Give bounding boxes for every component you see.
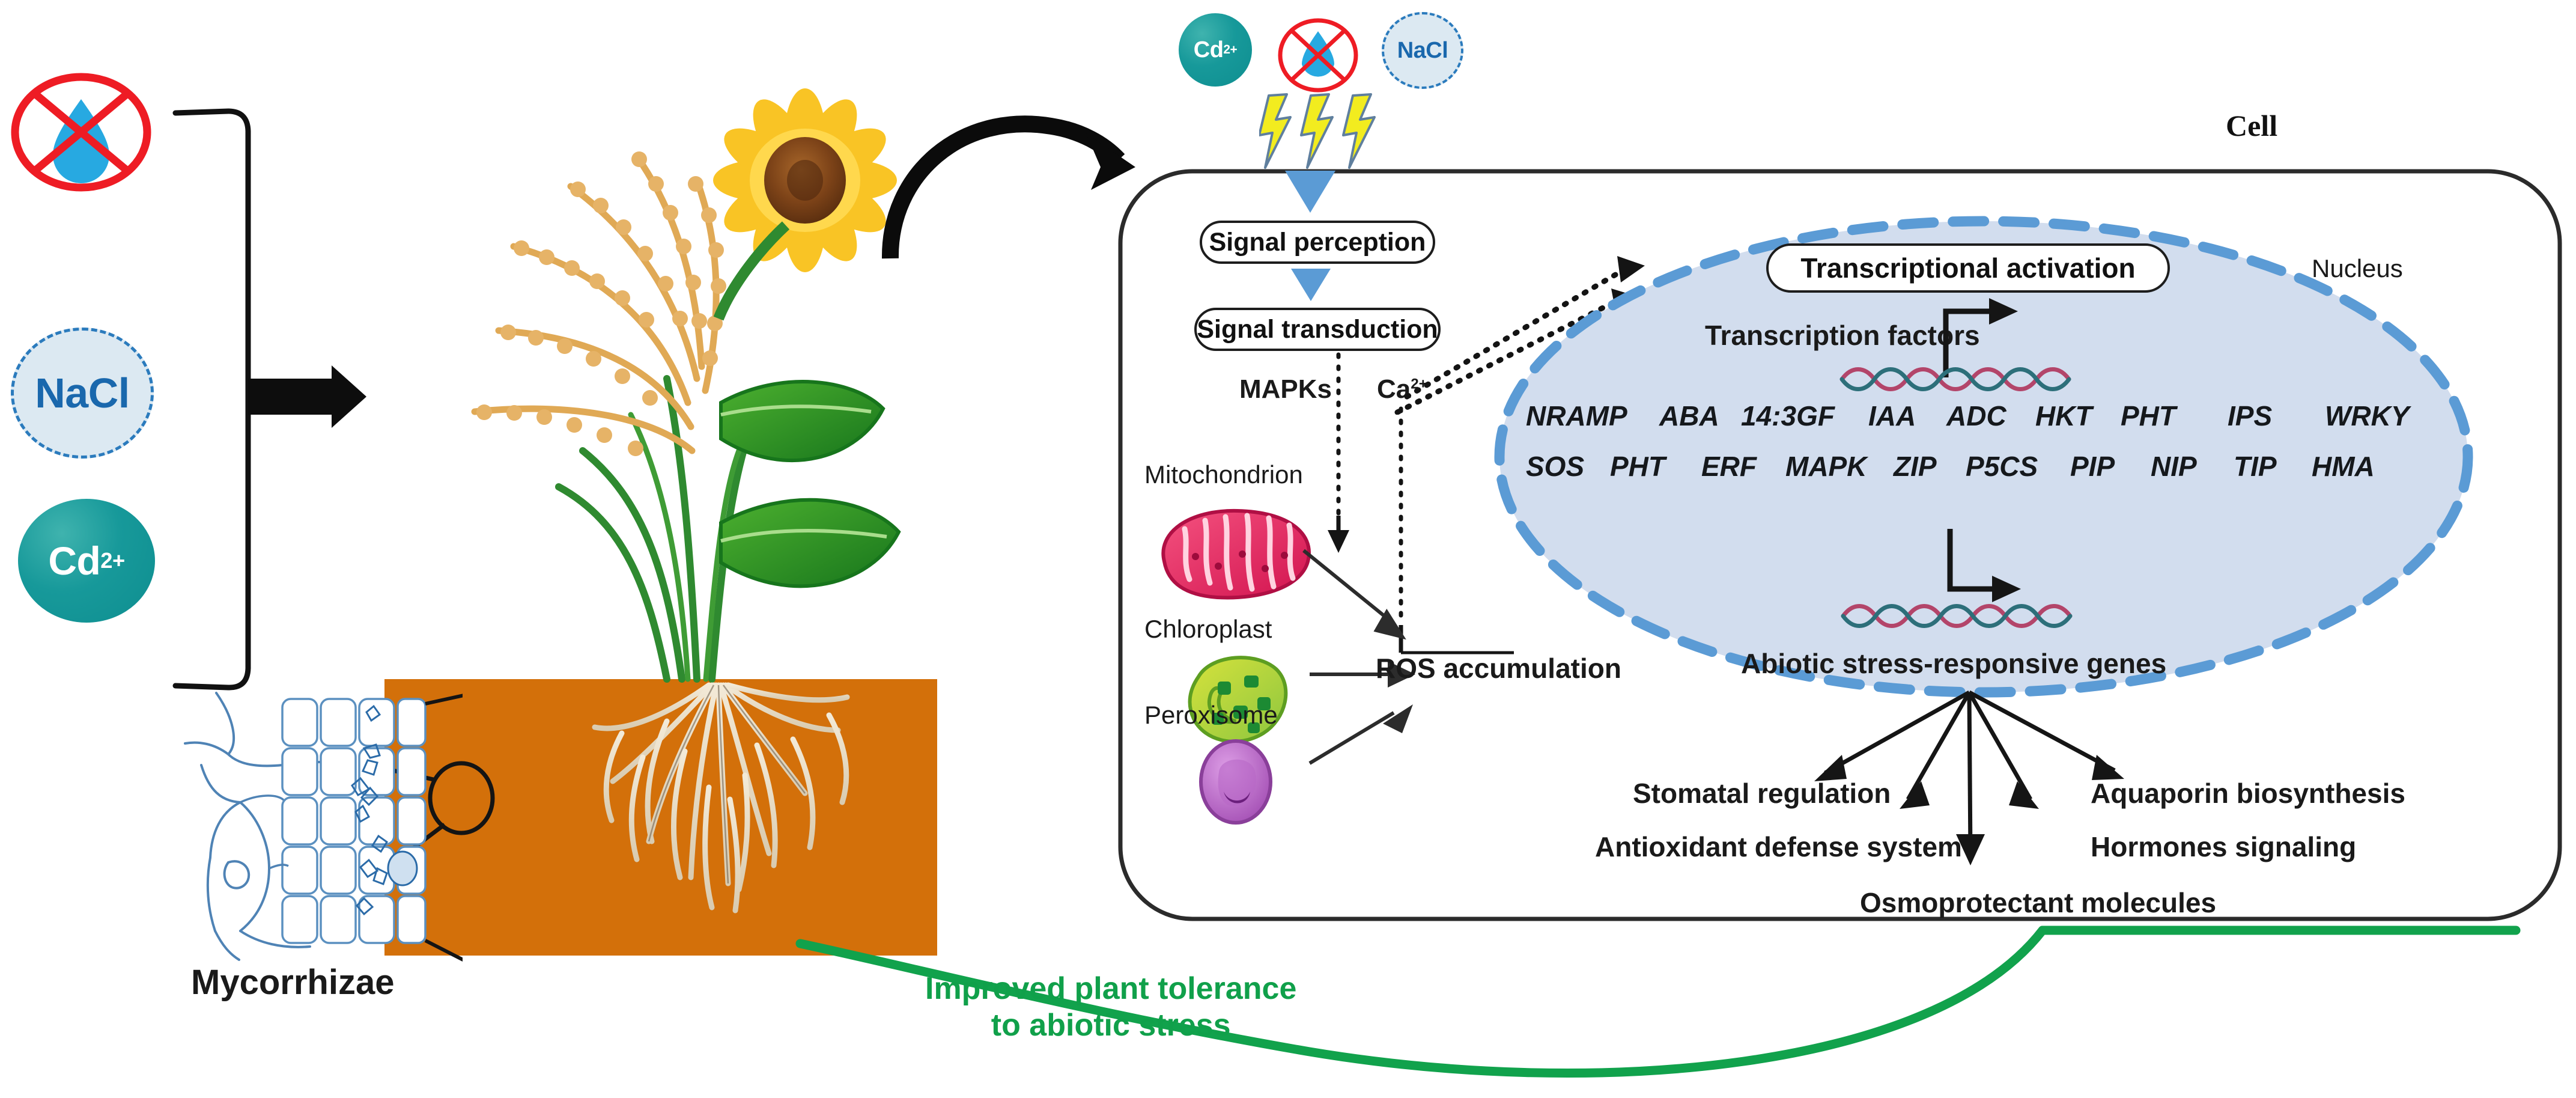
membrane-entry-triangle-icon	[1283, 168, 1338, 215]
sunflower-leaves	[721, 382, 899, 586]
conclusion-line-2: to abiotic stress	[925, 1007, 1296, 1044]
peroxisome-label: Peroxisome	[1144, 702, 1278, 728]
conclusion-line-1: Improved plant tolerance	[925, 971, 1296, 1007]
chloroplast-icon	[1180, 648, 1301, 750]
outcome-hormones-signaling: Hormones signaling	[2091, 832, 2356, 861]
outcome-aquaporin-biosynthesis: Aquaporin biosynthesis	[2091, 779, 2405, 808]
gene-list: NRAMP ABA 14:3GF IAA ADC HKT PHT IPS WRK…	[1526, 400, 2463, 490]
gene-nramp: NRAMP	[1526, 400, 1627, 432]
cadmium-superscript-top: 2+	[1223, 43, 1237, 57]
cadmium-label-top: Cd	[1194, 37, 1224, 63]
gene-pht-2: PHT	[1610, 450, 1665, 483]
cadmium-icon-top: Cd2+	[1179, 13, 1252, 87]
drought-icon-top	[1274, 11, 1362, 100]
cadmium-icon-left: Cd2+	[18, 499, 155, 623]
gene-p5cs: P5CS	[1966, 450, 2038, 483]
gene-row-2: SOS PHT ERF MAPK ZIP P5CS PIP NIP TIP HM…	[1526, 450, 2463, 487]
gene-sos: SOS	[1526, 450, 1584, 483]
gene-pht-1: PHT	[2121, 400, 2176, 432]
lightning-bolts-icon	[1259, 93, 1397, 177]
transcriptional-activation-pill[interactable]: Transcriptional activation	[1766, 243, 2170, 293]
outcome-antioxidant-defense-system: Antioxidant defense system	[1595, 832, 1962, 861]
gene-hma: HMA	[2312, 450, 2375, 483]
chloroplast-label: Chloroplast	[1144, 616, 1272, 642]
gene-row-1: NRAMP ABA 14:3GF IAA ADC HKT PHT IPS WRK…	[1526, 400, 2463, 437]
gene-pip: PIP	[2070, 450, 2115, 483]
gene-adc: ADC	[1946, 400, 2006, 432]
conclusion-text: Improved plant tolerance to abiotic stre…	[925, 971, 1296, 1045]
figure-canvas: NaCl Cd2+	[0, 0, 2576, 1098]
gene-mapk: MAPK	[1785, 450, 1867, 483]
perception-to-transduction-arrow-icon	[1289, 267, 1332, 303]
gene-ips: IPS	[2228, 400, 2272, 432]
gene-nip: NIP	[2151, 450, 2197, 483]
gene-erf: ERF	[1701, 450, 1757, 483]
gene-hkt: HKT	[2035, 400, 2092, 432]
nacl-icon-top: NaCl	[1382, 12, 1463, 89]
gene-14-3gf: 14:3GF	[1741, 400, 1835, 432]
gene-aba: ABA	[1659, 400, 1719, 432]
cell-title: Cell	[2226, 108, 2277, 143]
abiotic-stress-responsive-genes-label: Abiotic stress-responsive genes	[1741, 649, 2166, 678]
mycorrhizae-illustration	[78, 688, 463, 965]
dna-helix-upper-icon	[1838, 365, 2073, 393]
gene-zip: ZIP	[1894, 450, 1937, 483]
nacl-label-top: NaCl	[1397, 38, 1448, 64]
mycorrhizae-label: Mycorrhizae	[191, 965, 394, 1001]
outcome-stomatal-regulation: Stomatal regulation	[1633, 779, 1891, 808]
nucleus-label: Nucleus	[2312, 255, 2403, 282]
nacl-label-left: NaCl	[35, 369, 129, 417]
stress-to-plant-arrow	[248, 365, 366, 428]
mitochondrion-label: Mitochondrion	[1144, 462, 1303, 488]
promoter-arrow-lower-icon	[1886, 529, 2079, 607]
peroxisome-icon	[1192, 736, 1279, 828]
cadmium-superscript-left: 2+	[100, 548, 124, 573]
gene-wrky: WRKY	[2325, 400, 2410, 432]
dna-helix-lower-icon	[1839, 602, 2074, 630]
nacl-icon-left: NaCl	[11, 328, 154, 459]
drought-icon-left	[6, 57, 156, 207]
cadmium-label-left: Cd	[48, 538, 100, 584]
gene-tip: TIP	[2234, 450, 2277, 483]
gene-iaa: IAA	[1868, 400, 1916, 432]
